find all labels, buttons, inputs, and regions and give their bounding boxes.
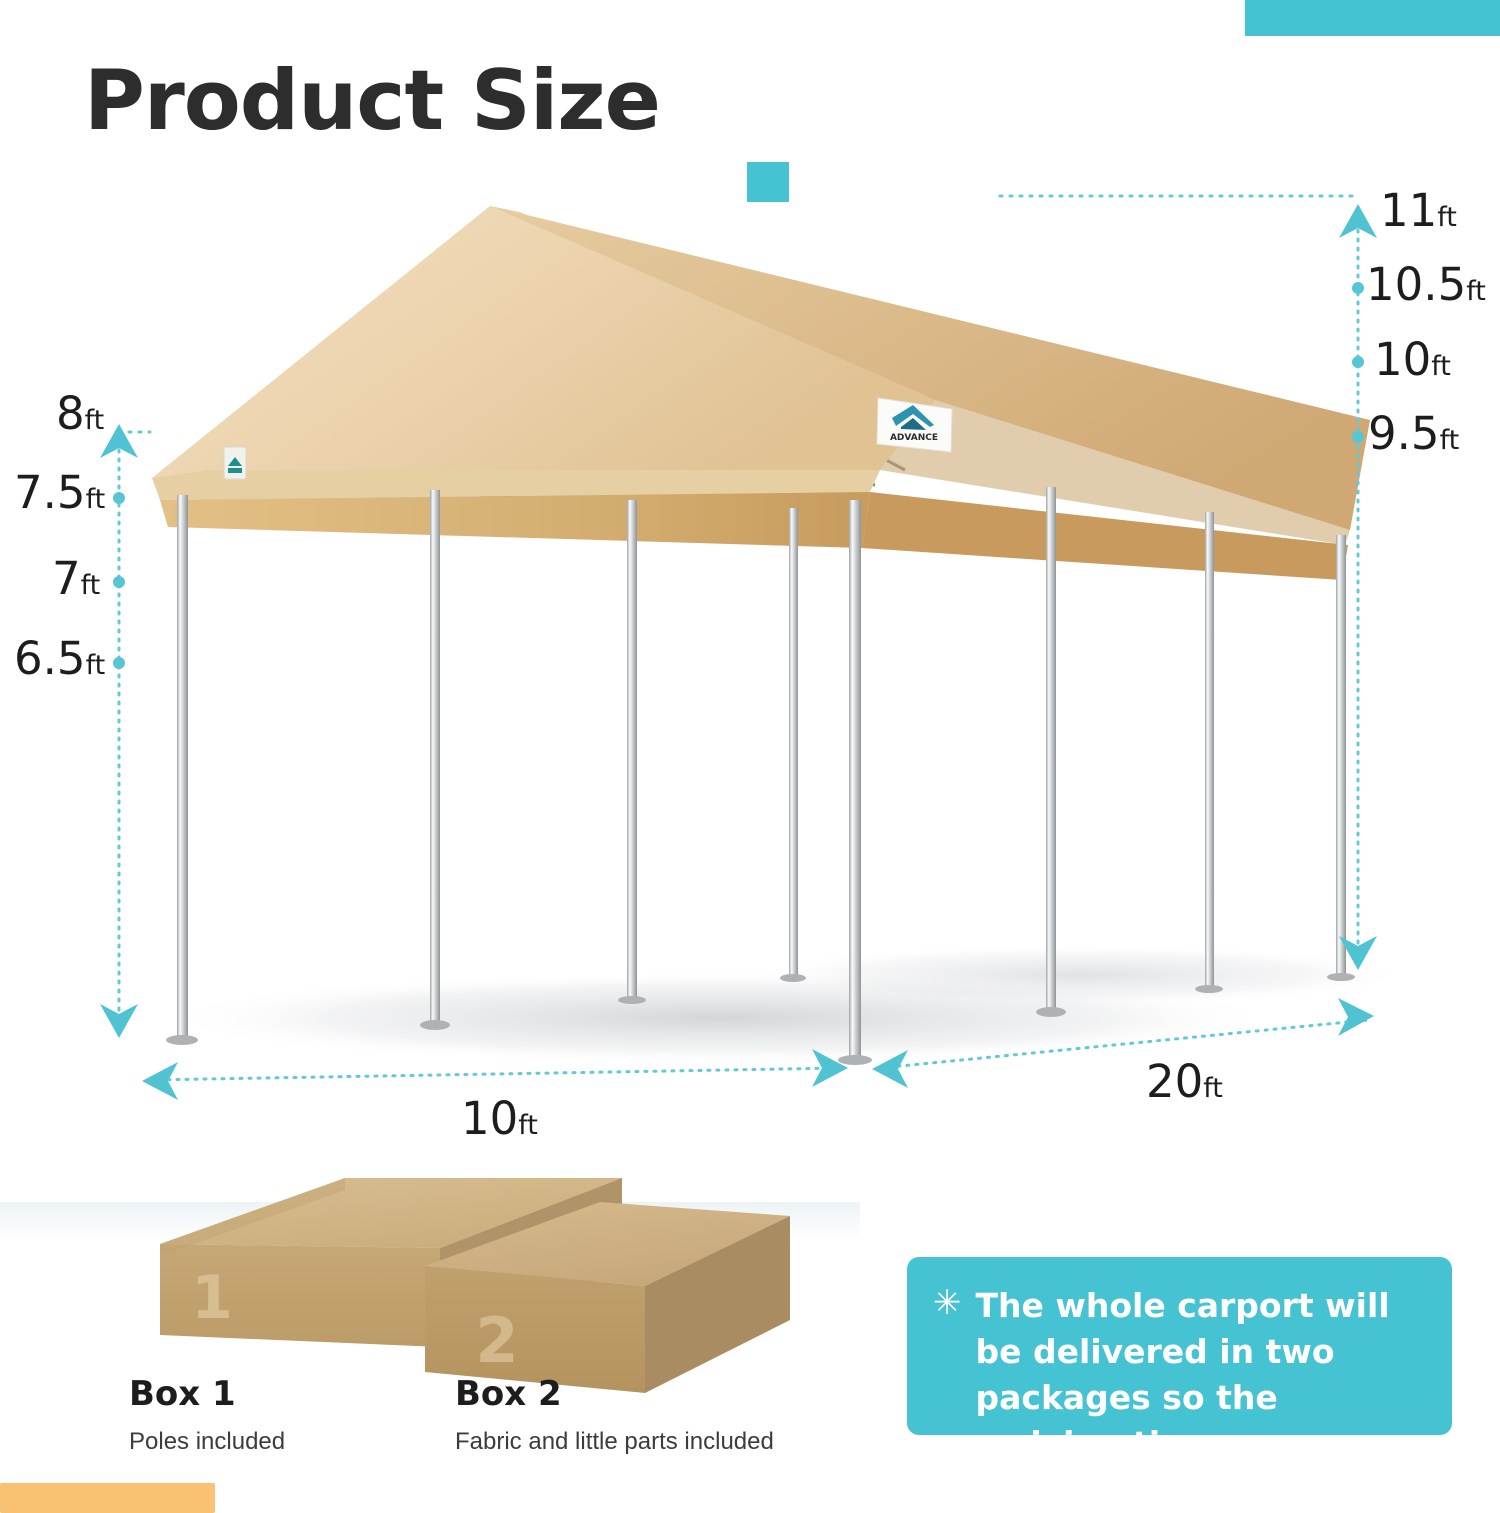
tick-dot-6-5 bbox=[113, 657, 125, 669]
package-box-1-number: 1 bbox=[191, 1263, 233, 1333]
dim-label-width: 10ft bbox=[461, 1092, 538, 1145]
dim-label-height-7-5ft: 7.5ft bbox=[14, 466, 105, 519]
bottom-left-accent-bar bbox=[0, 1483, 215, 1513]
title-accent-chip bbox=[747, 162, 789, 202]
package-box-2-title: Box 2 bbox=[455, 1374, 562, 1414]
dim-label-height-7ft: 7ft bbox=[52, 552, 100, 605]
page-title-group: Product Size bbox=[84, 57, 660, 145]
package-box-2-contents: Fabric and little parts included bbox=[455, 1428, 774, 1456]
tick-dot-7 bbox=[113, 576, 125, 588]
guide-width bbox=[150, 1068, 840, 1080]
tick-dot-9-5 bbox=[1352, 431, 1364, 443]
delivery-note-text: The whole carport will be delivered in t… bbox=[976, 1283, 1423, 1467]
dim-label-height-9-5ft: 9.5ft bbox=[1368, 407, 1459, 460]
infographic-canvas: Product Size bbox=[0, 0, 1500, 1500]
tick-dot-10-5 bbox=[1352, 282, 1364, 294]
page-title: Product Size bbox=[84, 57, 660, 145]
dim-label-height-6-5ft: 6.5ft bbox=[14, 632, 105, 685]
dim-label-height-10ft: 10ft bbox=[1374, 333, 1451, 386]
arrow-length-right bbox=[1338, 998, 1374, 1036]
dim-label-height-11ft: 11ft bbox=[1380, 184, 1457, 237]
package-boxes-illustration: 1 2 bbox=[0, 1150, 860, 1400]
package-box-2-number: 2 bbox=[475, 1304, 518, 1377]
tick-dot-7-5 bbox=[113, 492, 125, 504]
dim-label-height-10-5ft: 10.5ft bbox=[1366, 258, 1486, 311]
ceiling-sticker bbox=[224, 447, 246, 479]
asterisk-icon: ✳ bbox=[933, 1283, 962, 1323]
tick-dot-10 bbox=[1352, 356, 1364, 368]
dim-label-length: 20ft bbox=[1146, 1055, 1223, 1108]
delivery-note-card: ✳ The whole carport will be delivered in… bbox=[907, 1257, 1452, 1435]
dim-label-height-8ft: 8ft bbox=[56, 387, 104, 440]
brand-logo-text: ADVANCE bbox=[890, 433, 938, 443]
arrow-width-left bbox=[142, 1062, 178, 1100]
package-box-1-title: Box 1 bbox=[129, 1374, 236, 1414]
package-box-1-contents: Poles included bbox=[129, 1428, 285, 1456]
